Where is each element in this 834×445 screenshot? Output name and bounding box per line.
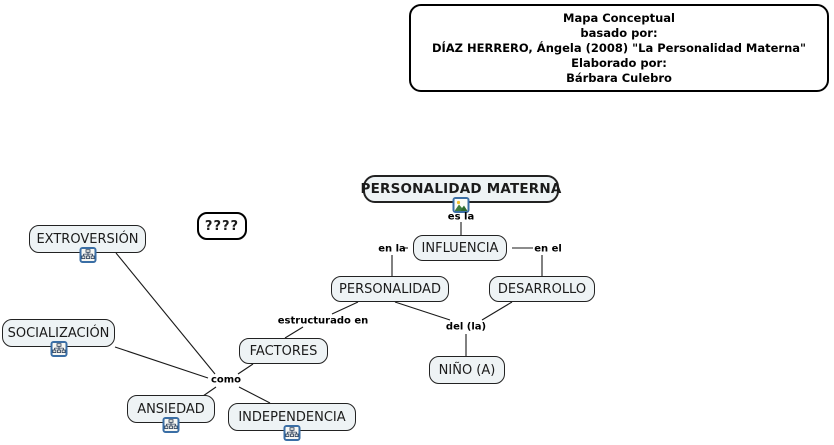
title-card: Mapa Conceptual basado por: DÍAZ HERRERO… — [409, 4, 829, 92]
concept-node-desarrollo[interactable]: DESARROLLO — [489, 276, 595, 302]
concept-node-influencia[interactable]: INFLUENCIA — [413, 235, 507, 261]
edge-personalidad-to-della — [395, 302, 450, 320]
title-line-5: Bárbara Culebro — [566, 71, 672, 86]
concept-map-icon[interactable] — [284, 425, 301, 441]
concept-node-unknown[interactable]: ???? — [197, 212, 247, 240]
concept-node-factores[interactable]: FACTORES — [239, 338, 328, 364]
edge-socializacion-to-como — [115, 347, 208, 378]
link-label-del_la[interactable]: del (la) — [446, 322, 486, 333]
title-line-4: Elaborado por: — [571, 56, 667, 71]
link-label-en_el[interactable]: en el — [534, 244, 562, 255]
concept-map-icon[interactable] — [163, 417, 180, 433]
title-line-1: Mapa Conceptual — [563, 11, 675, 26]
edge-desarrollo-to-della — [482, 302, 512, 320]
edge-factores-to-como — [238, 364, 253, 374]
title-line-2: basado por: — [580, 26, 657, 41]
edge-personalidad-to-estruct — [332, 302, 358, 314]
concept-node-nino[interactable]: NIÑO (A) — [429, 356, 505, 384]
link-label-estructurado_en[interactable]: estructurado en — [278, 316, 368, 327]
edge-extroversion-to-como — [116, 253, 215, 374]
title-line-3: DÍAZ HERRERO, Ángela (2008) "La Personal… — [432, 41, 806, 56]
link-label-como[interactable]: como — [211, 375, 241, 386]
concept-node-personalidad[interactable]: PERSONALIDAD — [331, 276, 449, 302]
link-label-en_la[interactable]: en la — [378, 244, 406, 255]
edge-estruct-to-factores — [285, 327, 303, 338]
concept-map-canvas: Mapa Conceptual basado por: DÍAZ HERRERO… — [0, 0, 834, 445]
link-label-es_la[interactable]: es la — [448, 212, 474, 223]
concept-map-icon[interactable] — [50, 341, 67, 357]
edge-como-to-independencia — [239, 387, 270, 403]
concept-map-icon[interactable] — [79, 247, 96, 263]
